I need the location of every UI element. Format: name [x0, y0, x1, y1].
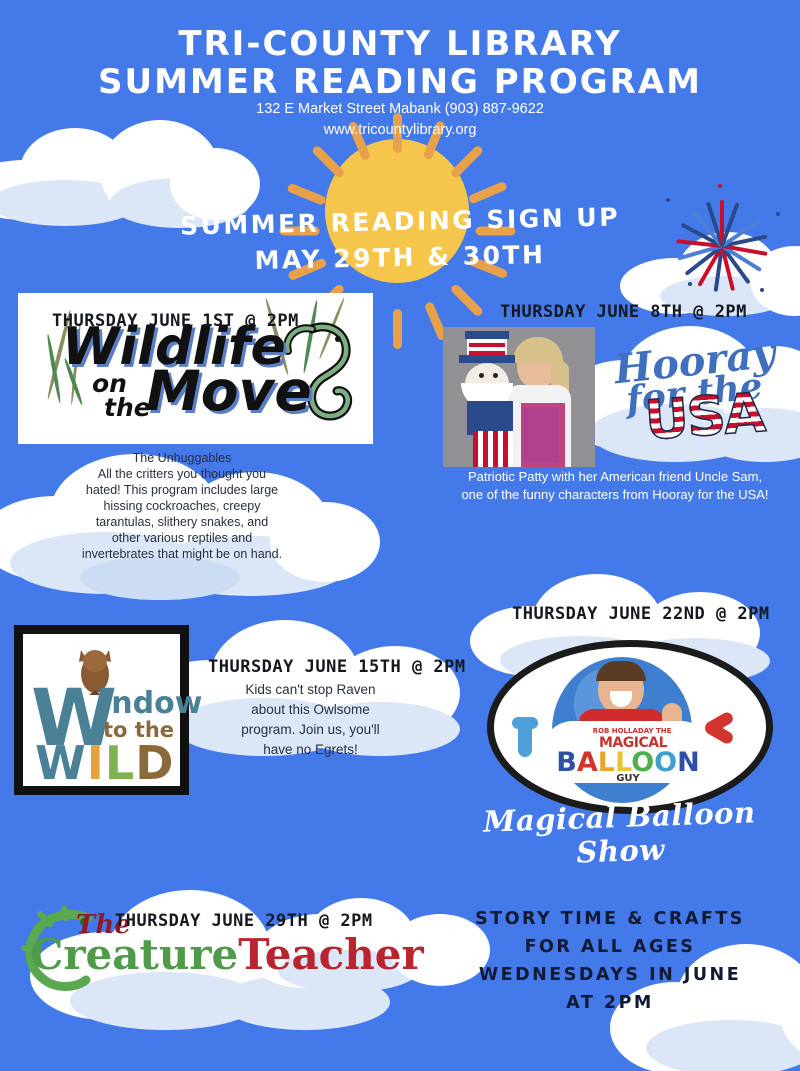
patriotic-patty-photo [443, 327, 595, 467]
wtw-word-wild: WILD [35, 740, 174, 786]
wildlife-word-move: Move [146, 359, 312, 423]
creature-teacher-logo: CreatureTeacher [30, 930, 424, 979]
event-date-june-1: THURSDAY JUNE 1ST @ 2PM [52, 311, 299, 331]
sun-ray [449, 283, 484, 318]
window-to-the-wild-logo: W indow to the WILD [14, 625, 189, 795]
balloon-guy-logo: ROB HOLLADAY THE MAGICAL BALLOON GUY [487, 640, 773, 814]
sun-ray [286, 183, 326, 206]
library-address: 132 E Market Street Mabank (903) 887-962… [0, 101, 800, 117]
wildlife-description: The Unhuggables All the critters you tho… [52, 450, 312, 562]
balloon-logo-smalltext: ROB HOLLADAY THE [592, 727, 672, 735]
page-title-line2: SUMMER READING PROGRAM [0, 62, 800, 102]
creature-word: Creature [30, 930, 238, 979]
sun-ray [449, 144, 484, 179]
event-date-june-8: THURSDAY JUNE 8TH @ 2PM [500, 302, 747, 322]
sun-ray [467, 181, 507, 205]
teacher-word: Teacher [238, 930, 423, 979]
balloon-logo-guy: GUY [548, 773, 708, 784]
sun-ray [393, 309, 402, 349]
storytime-line4: AT 2PM [440, 989, 780, 1017]
wtw-word-indow: indow [101, 686, 202, 721]
storytime-line1: STORY TIME & CRAFTS [440, 905, 780, 933]
wildlife-word-the: the [104, 393, 151, 422]
balloon-show-title: Magical Balloon Show [454, 794, 786, 873]
sun-ray [310, 144, 345, 179]
summer-reading-flyer: TRI-COUNTY LIBRARY SUMMER READING PROGRA… [0, 0, 800, 1071]
usa-caption: Patriotic Patty with her American friend… [430, 468, 800, 504]
event-date-june-15: THURSDAY JUNE 15TH @ 2PM [208, 657, 466, 677]
event-date-june-29: THURSDAY JUNE 29TH @ 2PM [115, 911, 373, 931]
page-title-line1: TRI-COUNTY LIBRARY [0, 24, 800, 64]
event-date-june-22: THURSDAY JUNE 22ND @ 2PM [512, 604, 770, 624]
usa-flag-letters: USA [643, 381, 766, 452]
wildlife-logo-text: Wildlife on the Move [18, 321, 373, 427]
storytime-line2: FOR ALL AGES [440, 933, 780, 961]
wtw-description: Kids can't stop Raven about this Owlsome… [213, 680, 408, 760]
library-website: www.tricountylibrary.org [0, 122, 800, 138]
storytime-line3: WEDNESDAYS IN JUNE [440, 961, 780, 989]
storytime-block: STORY TIME & CRAFTS FOR ALL AGES WEDNESD… [440, 905, 780, 1017]
